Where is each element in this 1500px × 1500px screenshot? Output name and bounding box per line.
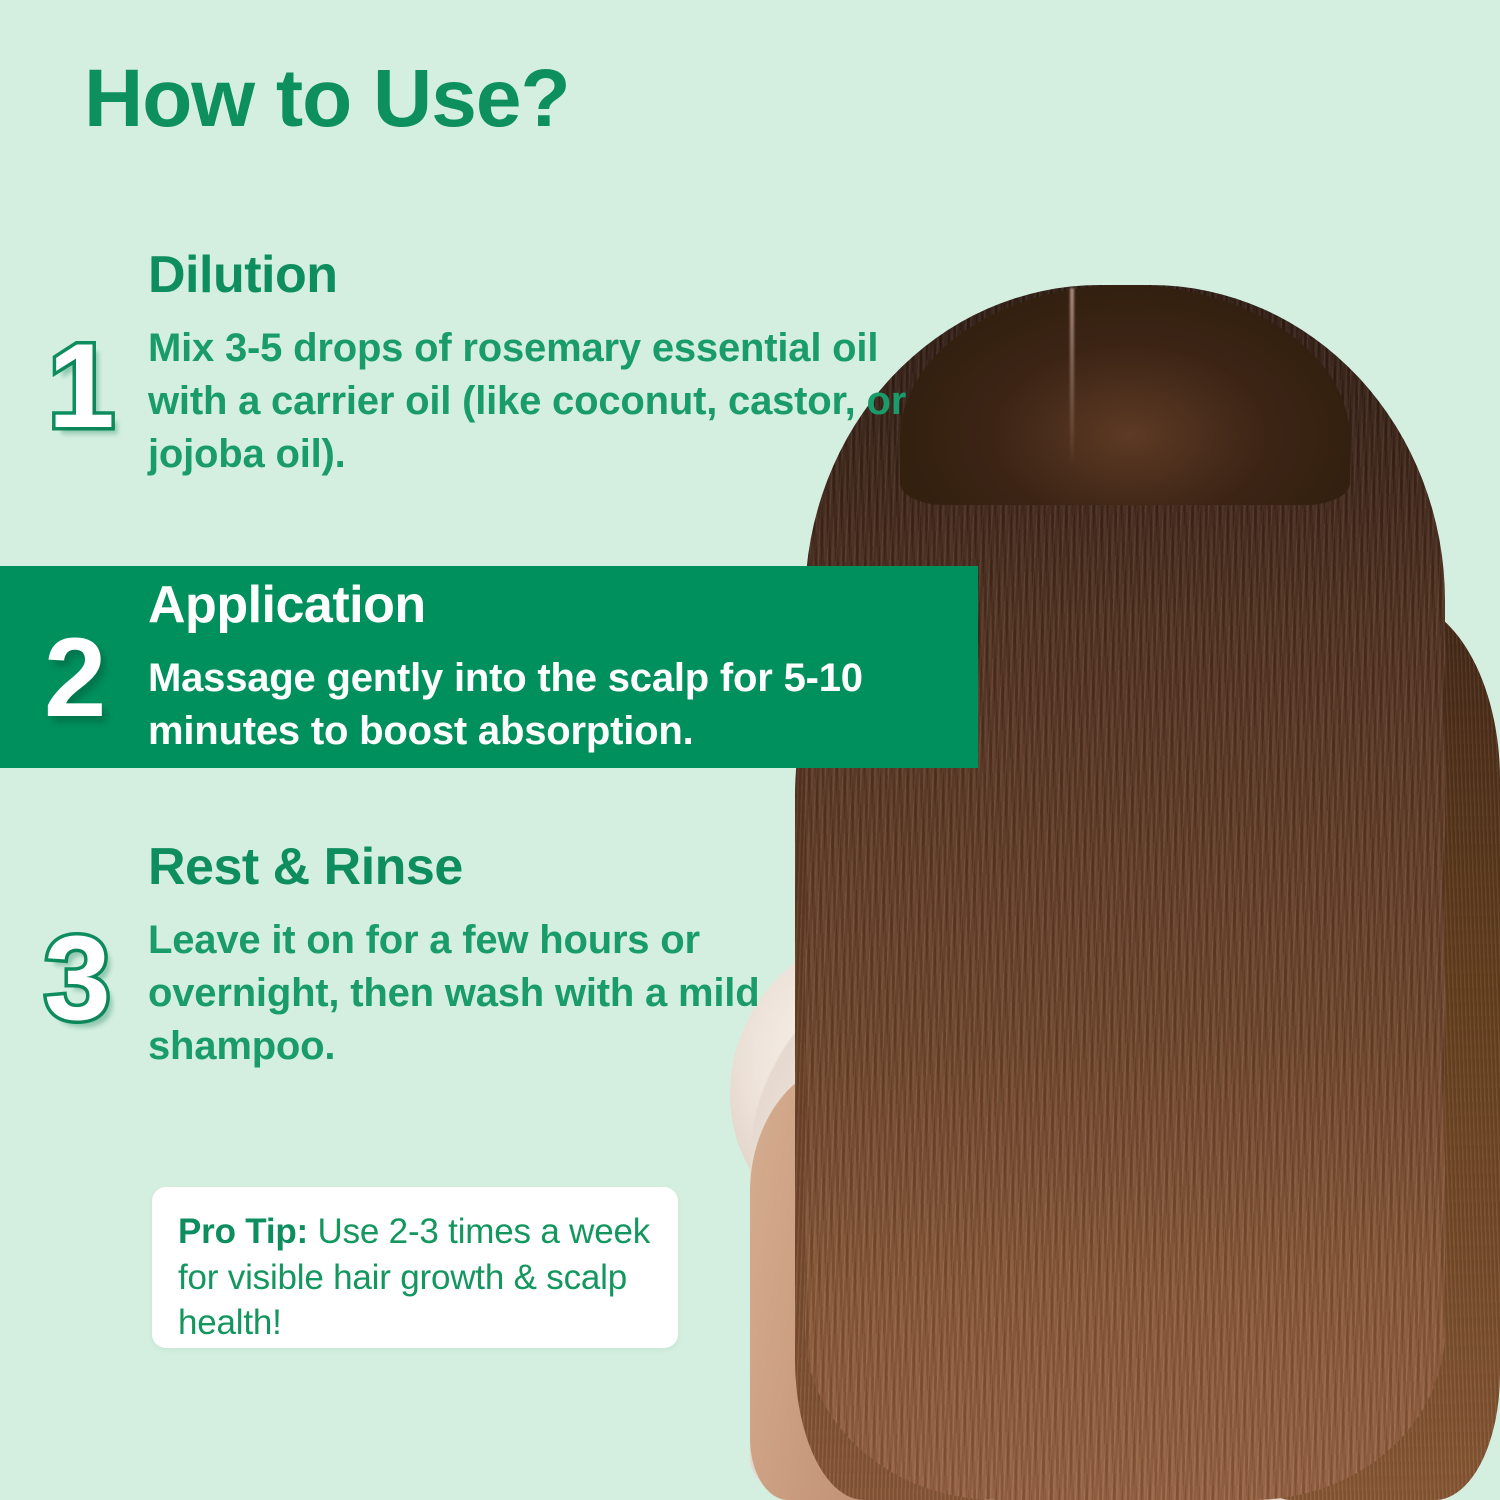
infographic-canvas: How to Use? 1 Dilution Mix 3-5 drops of … <box>0 0 1500 1500</box>
step-number-2: 2 <box>44 622 106 734</box>
step-title-2: Application <box>148 578 426 633</box>
step-number-1: 1 <box>48 326 115 446</box>
pro-tip-label: Pro Tip: <box>178 1212 308 1251</box>
step-text-2: Massage gently into the scalp for 5-10 m… <box>148 652 948 758</box>
step-text-3: Leave it on for a few hours or overnight… <box>148 914 788 1074</box>
pro-tip-card: Pro Tip: Use 2-3 times a week for visibl… <box>152 1187 678 1348</box>
step-text-1: Mix 3-5 drops of rosemary essential oil … <box>148 322 938 482</box>
content-layer: How to Use? 1 Dilution Mix 3-5 drops of … <box>0 0 1500 1500</box>
step-number-3: 3 <box>44 918 111 1038</box>
step-title-1: Dilution <box>148 248 338 303</box>
step-item-1: 1 Dilution Mix 3-5 drops of rosemary ess… <box>0 248 960 548</box>
page-title: How to Use? <box>84 58 570 140</box>
step-item-3: 3 Rest & Rinse Leave it on for a few hou… <box>0 840 960 1160</box>
step-title-3: Rest & Rinse <box>148 840 463 895</box>
step-item-2: 2 Application Massage gently into the sc… <box>0 574 978 774</box>
pro-tip-text: Pro Tip: Use 2-3 times a week for visibl… <box>178 1209 652 1346</box>
